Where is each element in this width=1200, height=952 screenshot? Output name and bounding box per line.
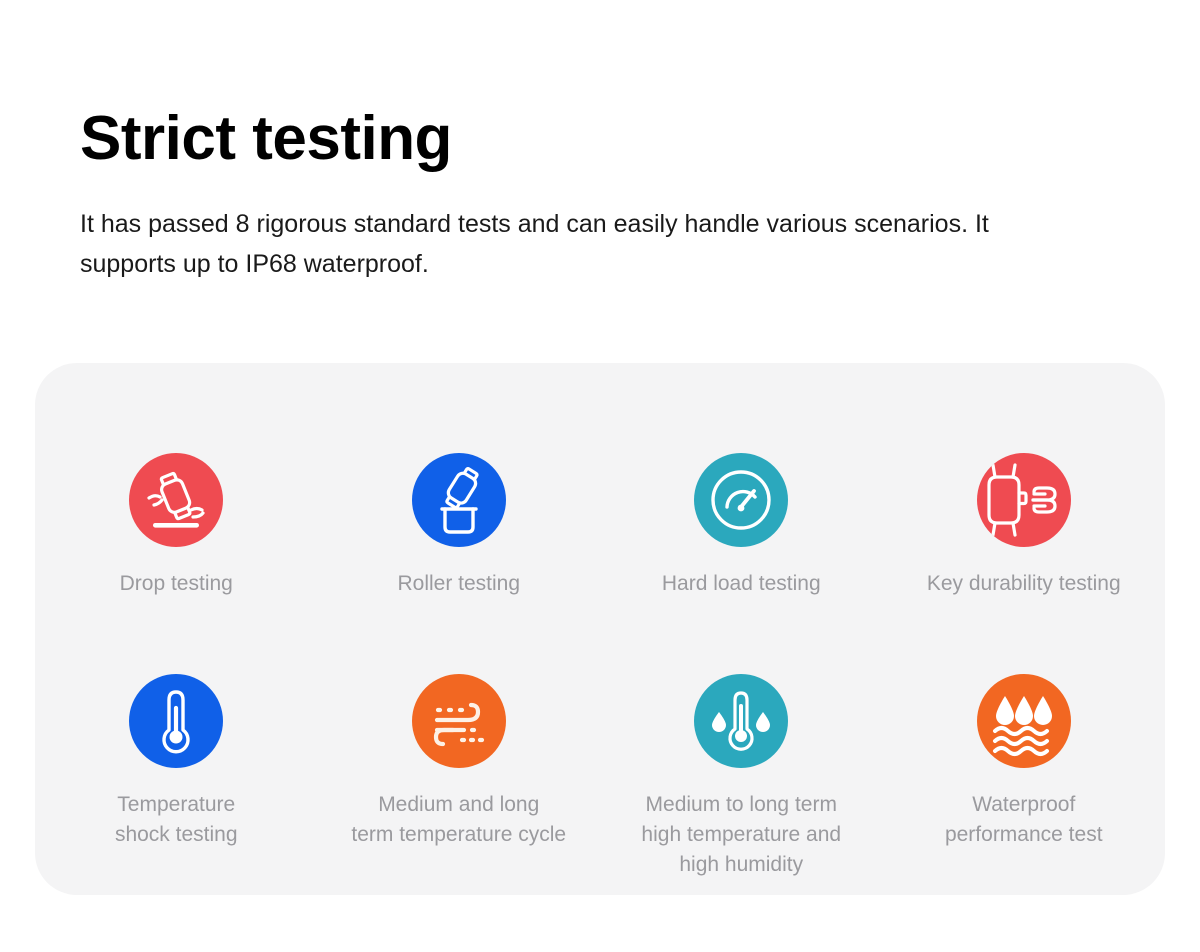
test-item-label: Medium and long term temperature cycle [351, 790, 566, 850]
gauge-speedometer-icon [694, 453, 788, 547]
thermometer-humidity-icon [694, 674, 788, 768]
watch-button-press-hand-icon [977, 453, 1071, 547]
page-header: Strict testing It has passed 8 rigorous … [80, 108, 1120, 284]
page-description: It has passed 8 rigorous standard tests … [80, 204, 1020, 284]
thermometer-icon [129, 674, 223, 768]
test-item-high-temp-humidity[interactable]: Medium to long term high temperature and… [600, 674, 883, 880]
test-item-drop-testing[interactable]: Drop testing [35, 453, 318, 599]
wind-airflow-icon [412, 674, 506, 768]
test-item-key-durability-testing[interactable]: Key durability testing [883, 453, 1166, 599]
test-item-label: Hard load testing [662, 569, 821, 599]
water-droplets-waves-icon [977, 674, 1071, 768]
test-item-temperature-cycle[interactable]: Medium and long term temperature cycle [318, 674, 601, 850]
watch-drop-impact-icon [129, 453, 223, 547]
test-item-hard-load-testing[interactable]: Hard load testing [600, 453, 883, 599]
test-item-label: Waterproof performance test [945, 790, 1103, 850]
test-item-label: Temperature shock testing [115, 790, 238, 850]
testing-grid: Drop testing Roller testing [35, 363, 1165, 895]
testing-card: Drop testing Roller testing [35, 363, 1165, 895]
watch-tumble-drum-icon [412, 453, 506, 547]
strict-testing-page: Strict testing It has passed 8 rigorous … [0, 0, 1200, 952]
test-item-label: Drop testing [120, 569, 233, 599]
test-item-waterproof-performance[interactable]: Waterproof performance test [883, 674, 1166, 850]
test-item-temperature-shock-testing[interactable]: Temperature shock testing [35, 674, 318, 850]
test-item-label: Roller testing [397, 569, 520, 599]
test-item-label: Medium to long term high temperature and… [641, 790, 841, 880]
test-item-roller-testing[interactable]: Roller testing [318, 453, 601, 599]
test-item-label: Key durability testing [927, 569, 1121, 599]
page-title: Strict testing [80, 108, 1120, 170]
